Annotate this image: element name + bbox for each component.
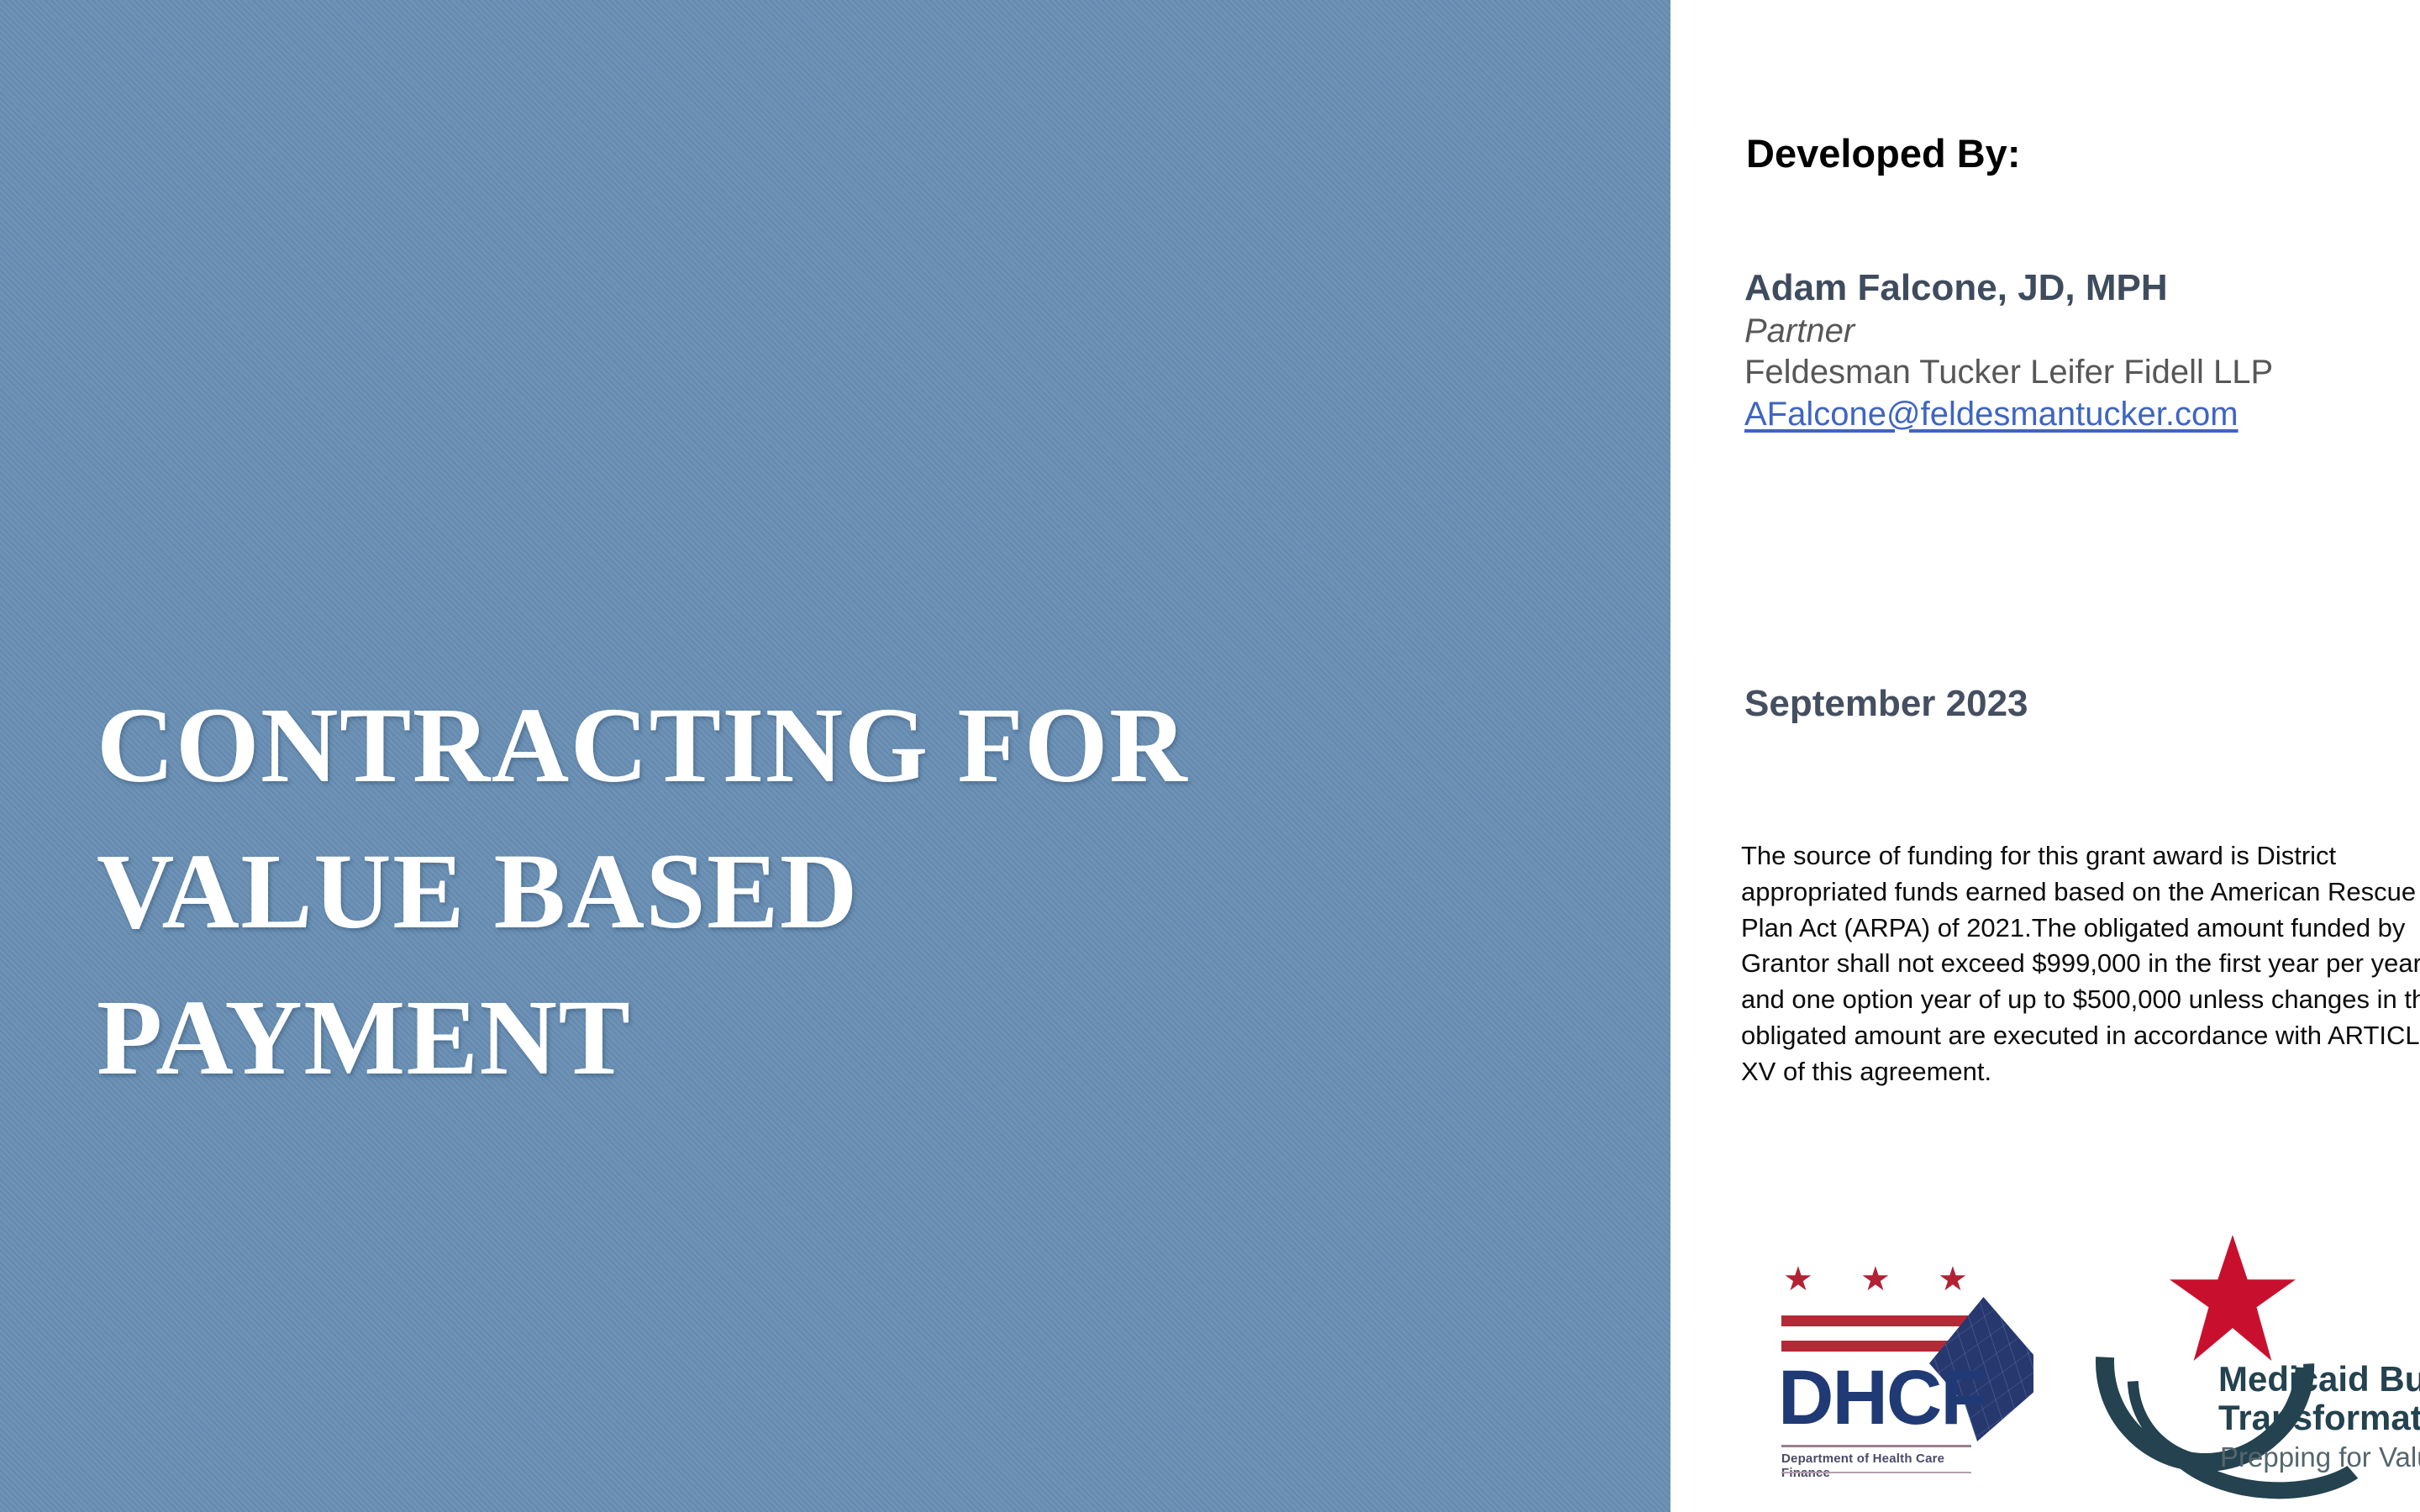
dhcf-stars-group: ★ ★ ★ bbox=[1783, 1265, 1981, 1305]
logo-row: ★ ★ ★ DHCF Department of Health Care Fin… bbox=[1670, 1210, 2420, 1512]
presenter-firm: Feldesman Tucker Leifer Fidell LLP bbox=[1744, 353, 2420, 392]
funding-disclaimer: The source of funding for this grant awa… bbox=[1741, 838, 2420, 1089]
star-icon: ★ bbox=[1860, 1265, 1889, 1294]
star-icon: ★ bbox=[1783, 1265, 1812, 1294]
presenter-email-link[interactable]: AFalcone@feldesmantucker.com bbox=[1744, 395, 2238, 434]
presenter-block: Adam Falcone, JD, MPH Partner Feldesman … bbox=[1744, 267, 2420, 434]
slide-title-line-3: Payment bbox=[97, 964, 1626, 1110]
slide-title-line-2: Value Based bbox=[97, 818, 1626, 964]
presenter-role: Partner bbox=[1744, 312, 2420, 351]
mbt-title-line-1: Medicaid Bus bbox=[2218, 1361, 2420, 1398]
title-accent-panel: Contracting for Value Based Payment bbox=[0, 0, 1670, 1512]
title-slide: Contracting for Value Based Payment Deve… bbox=[0, 0, 2420, 1512]
mbt-tagline: Prepping for Value bbox=[2220, 1443, 2420, 1472]
dhcf-logo: ★ ★ ★ DHCF Department of Health Care Fin… bbox=[1763, 1252, 2049, 1495]
developed-by-heading: Developed By: bbox=[1746, 130, 2020, 176]
slide-date: September 2023 bbox=[1744, 683, 2028, 725]
slide-title-line-1: Contracting for bbox=[97, 672, 1626, 818]
dhcf-tagline: Department of Health Care Finance bbox=[1781, 1452, 1983, 1480]
presenter-name: Adam Falcone, JD, MPH bbox=[1744, 267, 2420, 308]
dhcf-divider-bottom bbox=[1781, 1472, 1971, 1473]
star-icon: ★ bbox=[1938, 1265, 1966, 1294]
slide-title: Contracting for Value Based Payment bbox=[97, 672, 1626, 1110]
medicaid-business-transformation-logo: Medicaid Bus Transformati Prepping for V… bbox=[2091, 1228, 2420, 1505]
dhcf-flag-bar bbox=[1781, 1315, 1983, 1326]
dhcf-divider-top bbox=[1781, 1445, 1971, 1447]
slide-content-panel: Developed By: Adam Falcone, JD, MPH Part… bbox=[1670, 0, 2420, 1512]
mbt-title-line-2: Transformati bbox=[2218, 1399, 2420, 1436]
dhcf-acronym: DHCF bbox=[1778, 1359, 1986, 1436]
